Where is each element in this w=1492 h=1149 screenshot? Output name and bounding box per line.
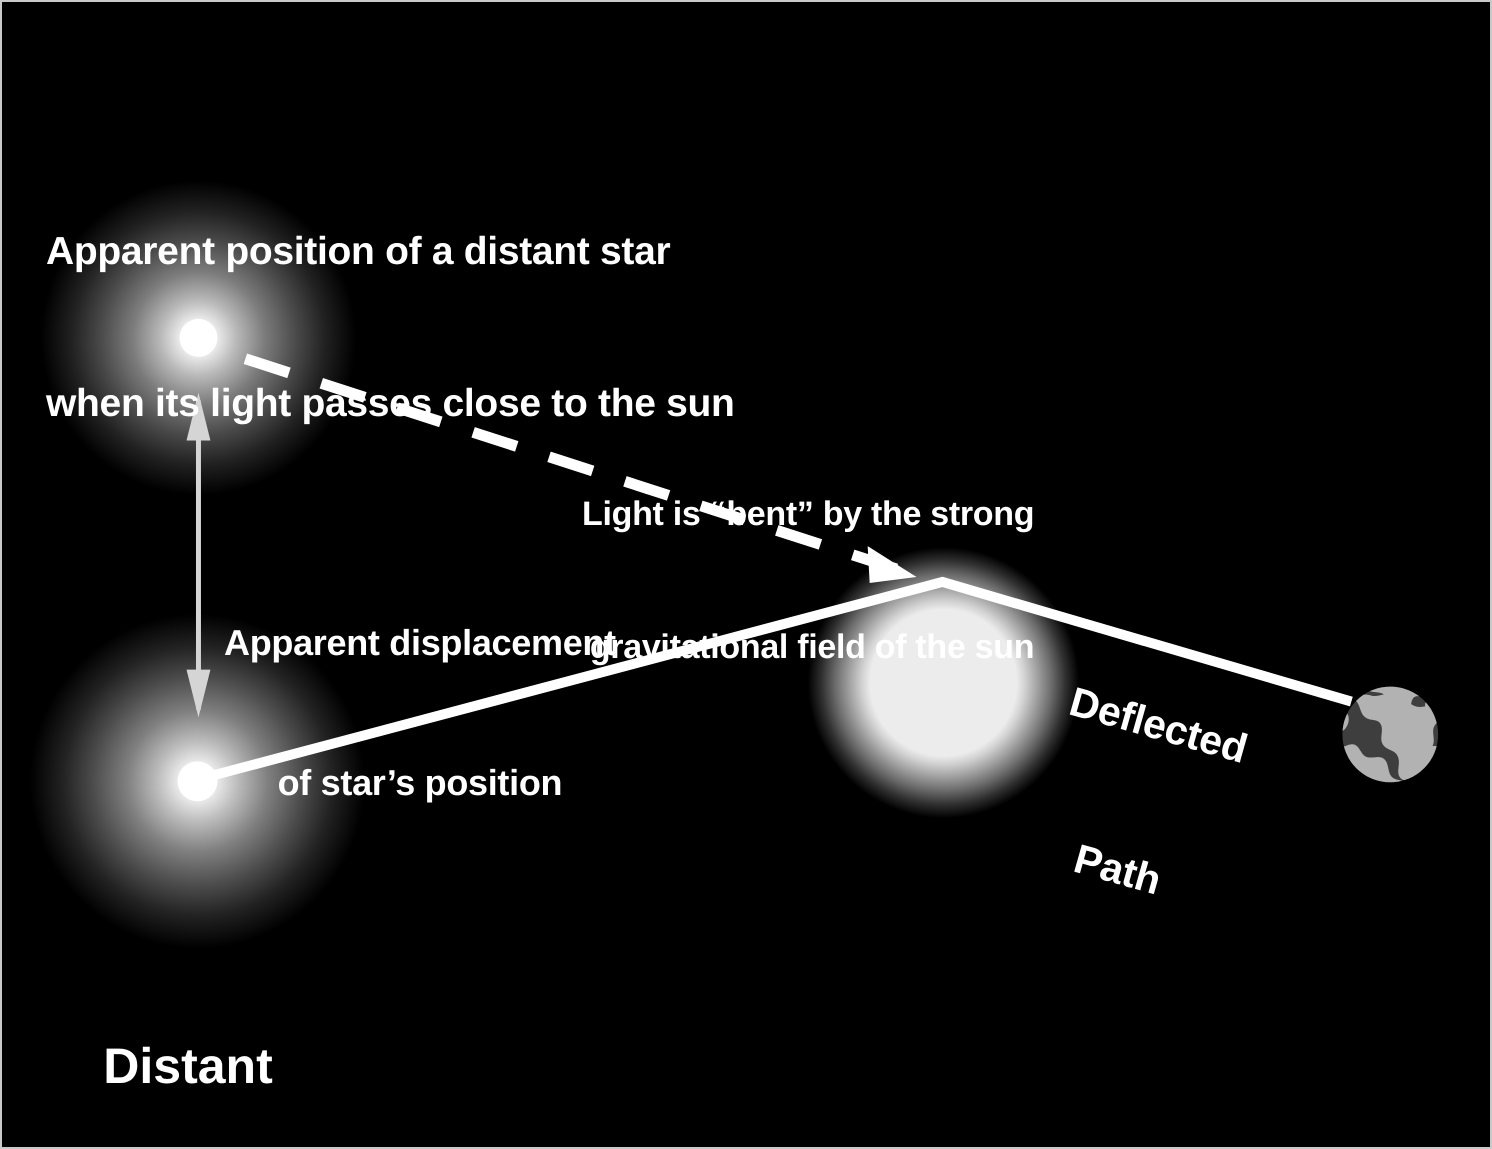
label-apparent-displacement-line2: of star’s position (224, 760, 616, 807)
label-deflected-path-line2: Path (1023, 821, 1212, 919)
label-light-bent-line2: gravitational field of the sun (582, 625, 1034, 669)
label-apparent-displacement: Apparent displacement of star’s position (224, 526, 616, 900)
label-light-bent-line1: Light is “bent” by the strong (582, 492, 1034, 536)
distant-star-core (178, 761, 218, 801)
label-apparent-displacement-line1: Apparent displacement (224, 620, 616, 667)
label-deflected-path-line1: Deflected (1064, 676, 1253, 774)
diagram-canvas: Apparent position of a distant star when… (0, 0, 1492, 1149)
label-light-bent: Light is “bent” by the strong gravitatio… (582, 404, 1034, 758)
label-apparent-position-line1: Apparent position of a distant star (46, 227, 735, 278)
label-distant-star-line1: Distant (88, 1034, 288, 1099)
label-distant-star: Distant Star (88, 904, 288, 1149)
